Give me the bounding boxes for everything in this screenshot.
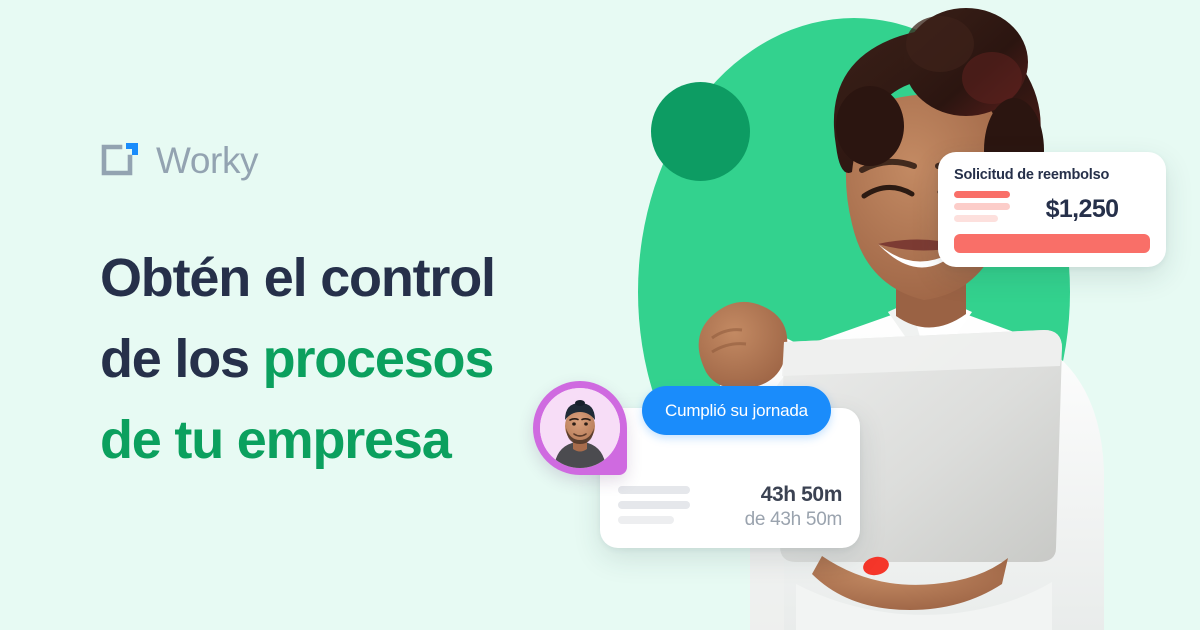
headline-line-1: Obtén el control: [100, 238, 570, 319]
brand-wordmark: Worky: [156, 142, 258, 179]
reimbursement-body: $1,250: [954, 192, 1150, 226]
workday-card[interactable]: Cumplió su jornada 43h 50m de 43h 50m: [600, 408, 860, 548]
skeleton-bar: [618, 516, 674, 524]
reimbursement-title: Solicitud de reembolso: [954, 167, 1150, 183]
workday-skeleton-lines: [618, 483, 690, 531]
brand-logo[interactable]: Worky: [100, 134, 570, 186]
reimbursement-amount: $1,250: [1010, 195, 1150, 224]
headline-line-2-plain: de los: [100, 329, 263, 389]
headline-line-2-accent: procesos: [263, 329, 494, 389]
skeleton-bar: [954, 203, 1010, 210]
hero-left-column: Worky Obtén el control de los procesos d…: [100, 134, 570, 481]
workday-total-time: de 43h 50m: [690, 508, 842, 532]
skeleton-bar: [618, 486, 690, 494]
worky-corner-square-icon: [100, 139, 142, 181]
skeleton-bar: [954, 215, 998, 222]
page-title: Obtén el control de los procesos de tu e…: [100, 238, 570, 481]
avatar[interactable]: [533, 381, 627, 475]
workday-worked-time: 43h 50m: [690, 483, 842, 507]
workday-time-values: 43h 50m de 43h 50m: [690, 483, 842, 532]
headline-line-2: de los procesos: [100, 319, 570, 400]
hero-banner: Worky Obtén el control de los procesos d…: [0, 0, 1200, 630]
skeleton-bar: [954, 191, 1010, 198]
avatar-photo: [540, 388, 620, 468]
reimbursement-action-bar[interactable]: [954, 234, 1150, 253]
workday-status-badge[interactable]: Cumplió su jornada: [642, 386, 831, 435]
workday-body: 43h 50m de 43h 50m: [618, 483, 842, 532]
reimbursement-skeleton-lines: [954, 191, 1010, 227]
avatar-photo-frame: [540, 388, 620, 468]
skeleton-bar: [618, 501, 690, 509]
headline-line-3: de tu empresa: [100, 400, 570, 481]
reimbursement-card[interactable]: Solicitud de reembolso $1,250: [938, 152, 1166, 267]
